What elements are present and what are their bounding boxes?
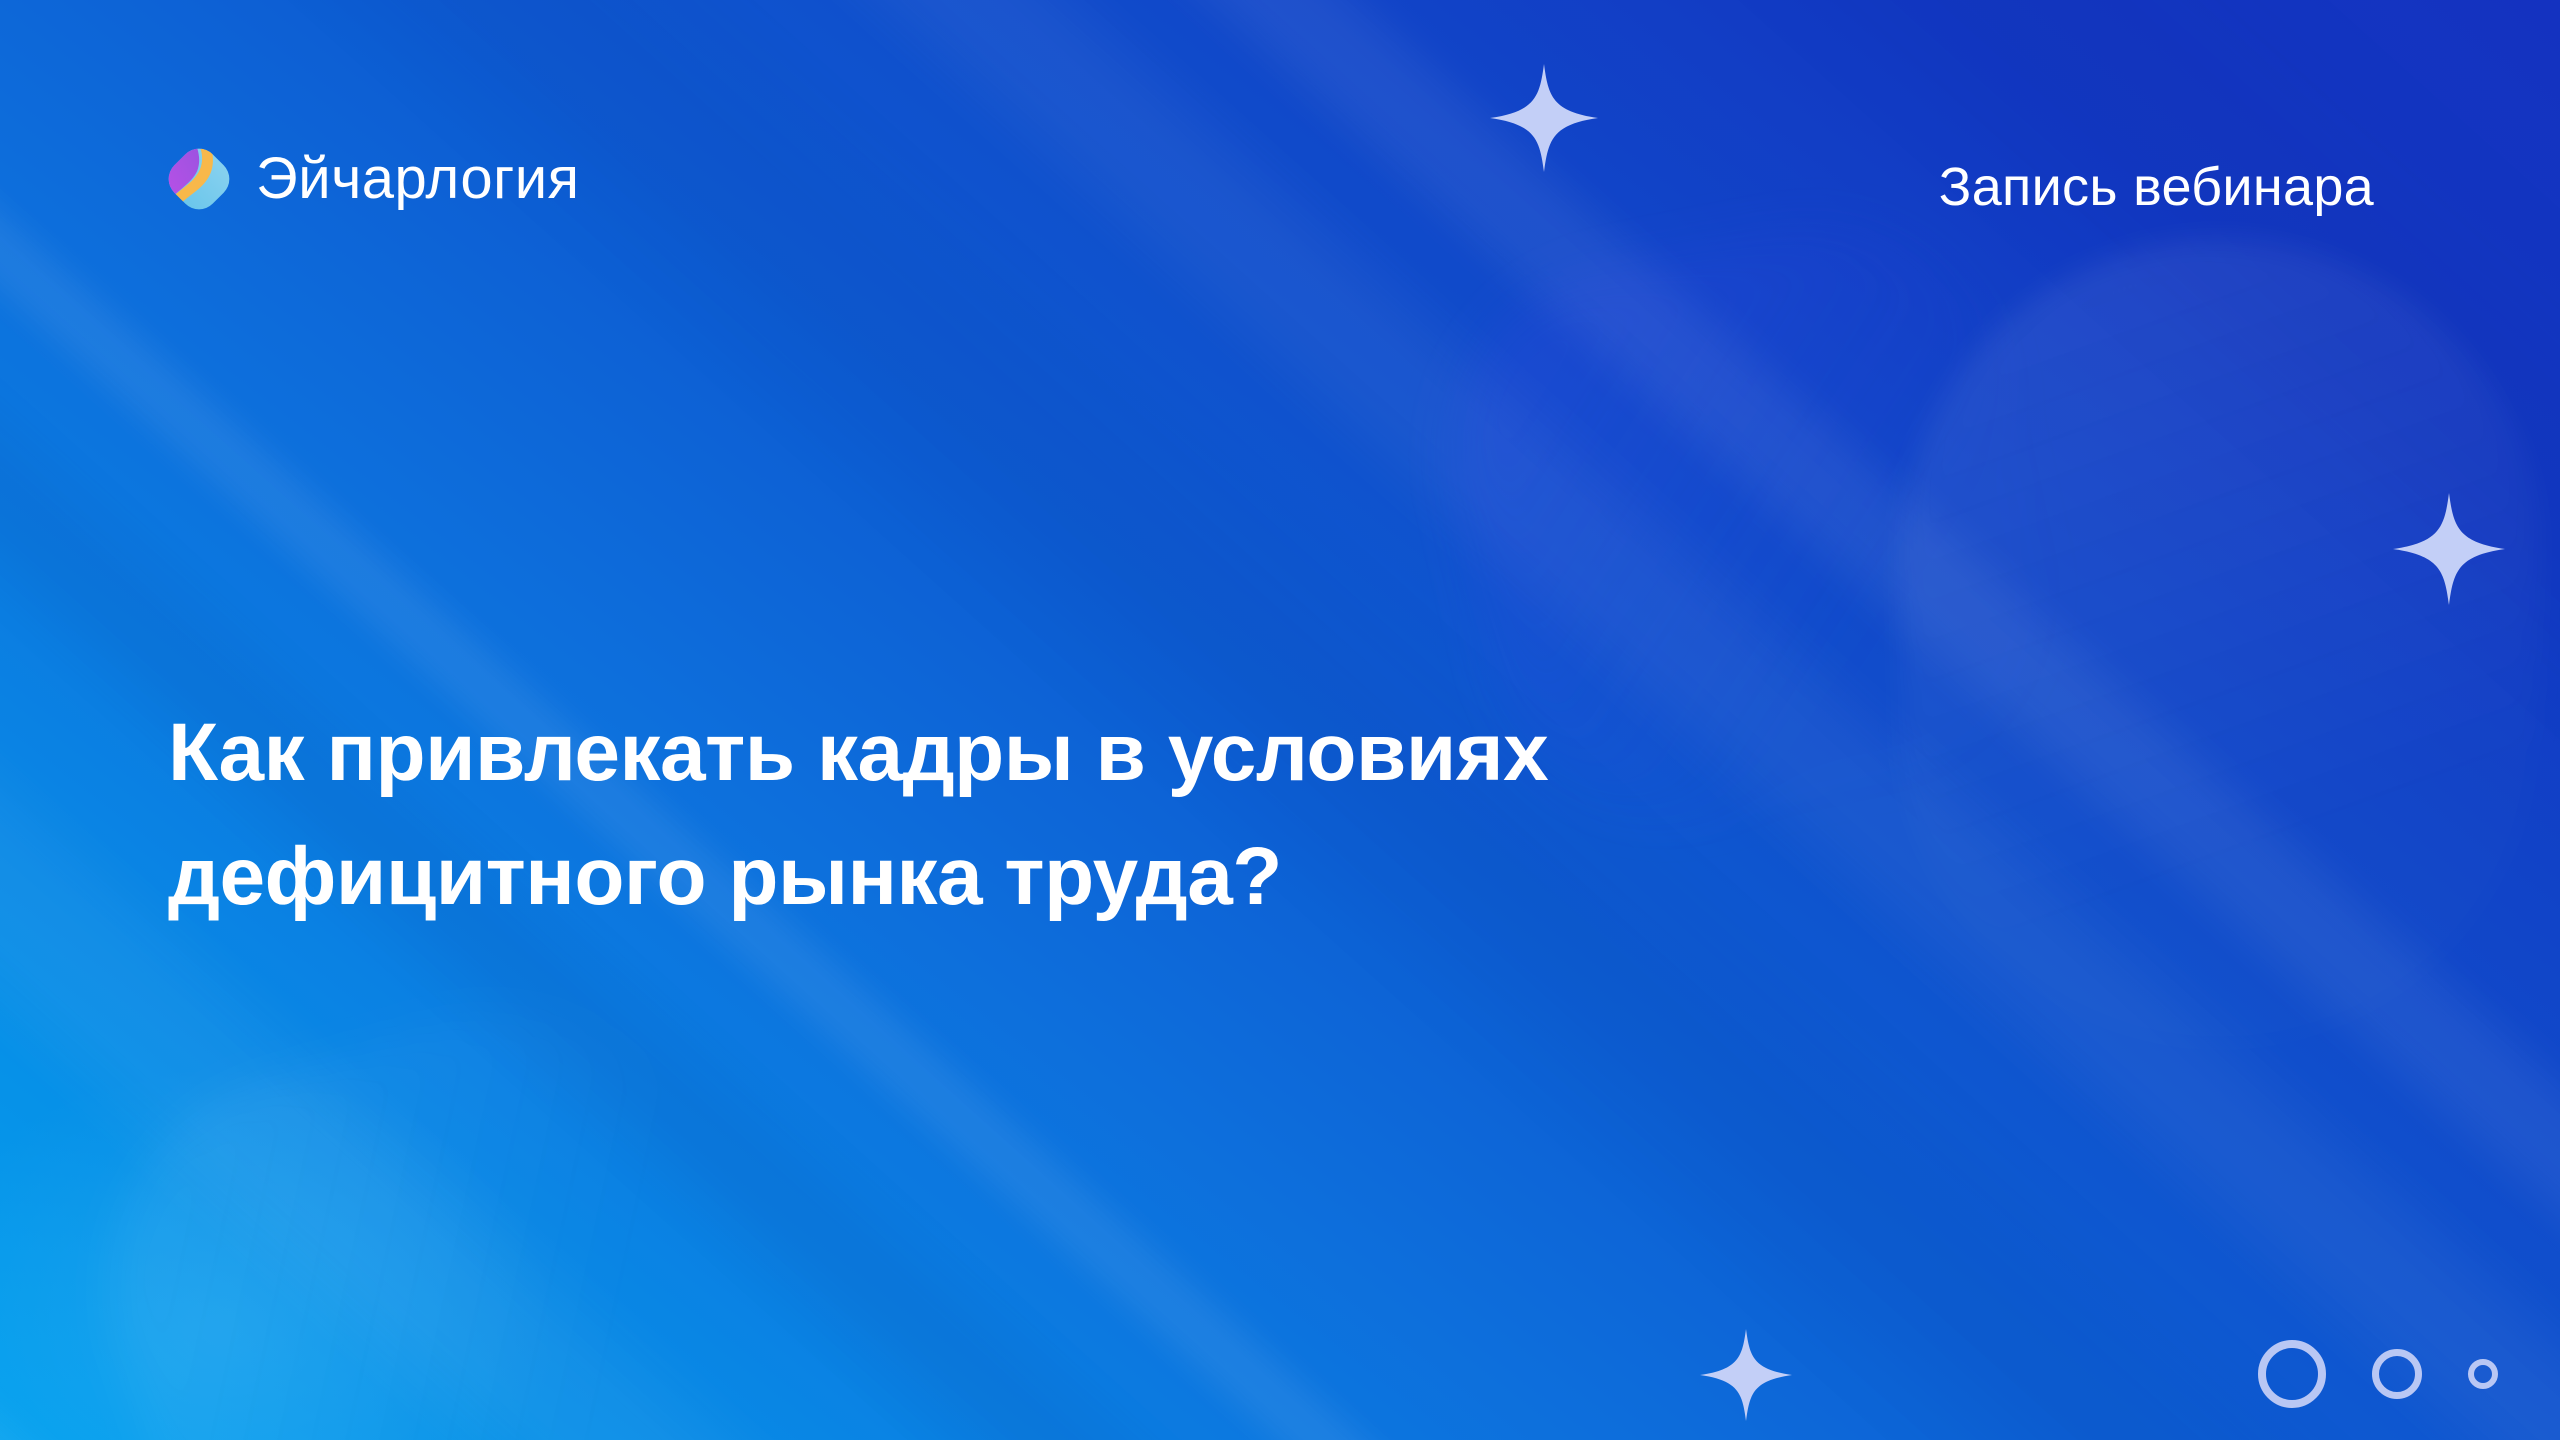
brand-name: Эйчарлогия — [256, 150, 580, 208]
page-title-line-2: дефицитного рынка труда? — [168, 815, 1888, 939]
webinar-title-slide: Эйчарлогия Запись вебинара Как привлекат… — [0, 0, 2560, 1440]
webinar-record-label: Запись вебинара — [1939, 160, 2374, 214]
page-title: Как привлекать кадры в условиях дефицитн… — [168, 691, 1888, 939]
sparkle-right-icon — [2393, 490, 2505, 608]
logo-icon — [168, 148, 230, 210]
sparkle-bottom-icon — [1700, 1325, 1792, 1425]
background-blob-right — [1900, 240, 2540, 1050]
decorative-circles — [2258, 1340, 2498, 1408]
sparkle-top-icon — [1490, 62, 1598, 174]
background-blob-left — [55, 957, 805, 1440]
brand-lockup: Эйчарлогия — [168, 148, 580, 210]
circle-medium-icon — [2372, 1349, 2422, 1399]
background-glow-bottom-left — [0, 980, 670, 1440]
page-title-line-1: Как привлекать кадры в условиях — [168, 691, 1888, 815]
circle-large-icon — [2258, 1340, 2326, 1408]
circle-small-icon — [2468, 1359, 2498, 1389]
